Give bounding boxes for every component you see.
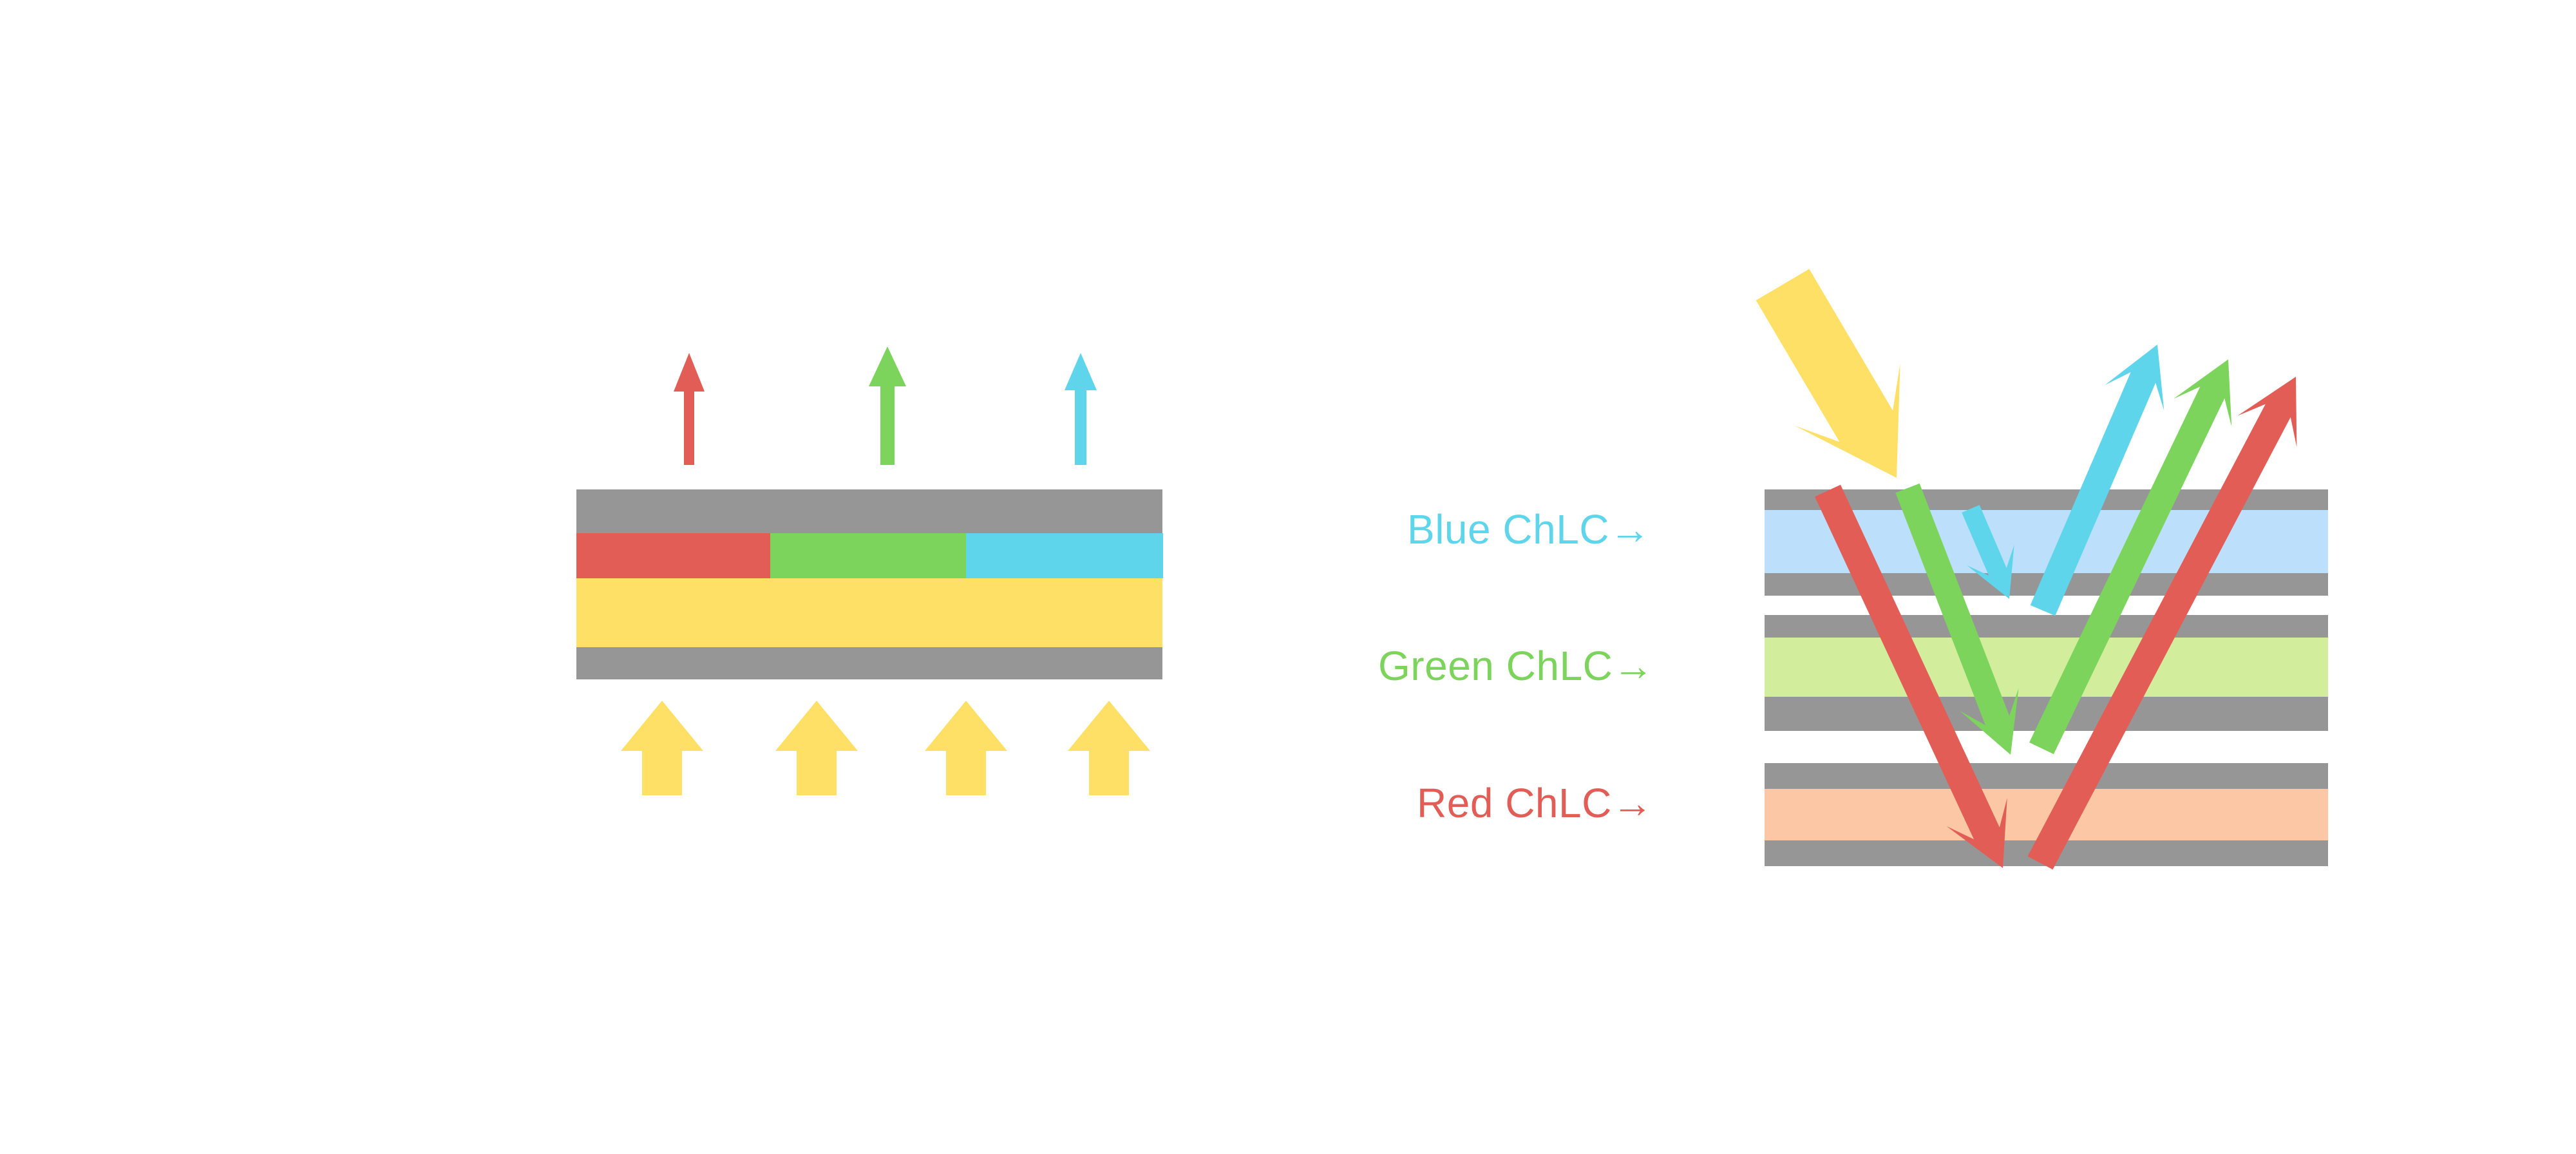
chlc-reflective-stack-panel	[0, 0, 2576, 1154]
green-chlc-layer	[1765, 638, 2328, 697]
red-chlc-label-arrow-icon: →	[1612, 780, 1654, 826]
green-chlc-label: Green ChLC→	[1378, 645, 1654, 686]
electrode-3	[1765, 615, 2328, 638]
blue-chlc-label-text: Blue ChLC	[1407, 506, 1609, 553]
green-chlc-label-arrow-icon: →	[1613, 643, 1654, 689]
red-chlc-label-text: Red ChLC	[1417, 780, 1612, 826]
incident-white-light-arrow	[1756, 269, 1900, 478]
green-chlc-label-text: Green ChLC	[1378, 643, 1613, 689]
red-chlc-label: Red ChLC→	[1417, 782, 1653, 824]
diagram-canvas: Blue ChLC→ Green ChLC→ Red ChLC→	[0, 0, 2576, 1154]
blue-chlc-label-arrow-icon: →	[1609, 506, 1651, 553]
blue-chlc-label: Blue ChLC→	[1407, 509, 1651, 550]
electrode-5	[1765, 763, 2328, 789]
